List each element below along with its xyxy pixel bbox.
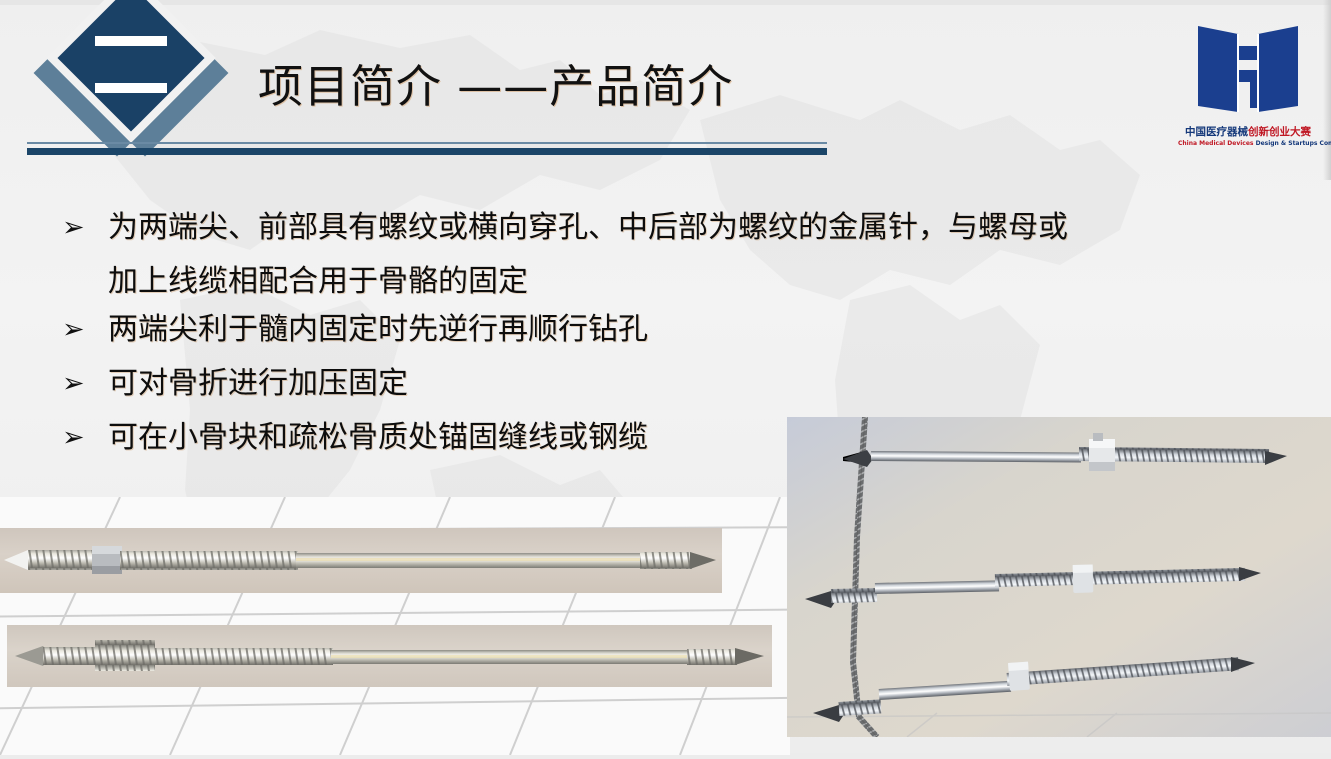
emblem-bar-bottom	[95, 83, 167, 93]
competition-logo: 中国医疗器械创新创业大赛 China Medical Devices Desig…	[1178, 14, 1318, 164]
list-item: ➢ 两端尖利于髓内固定时先逆行再顺行钻孔	[62, 306, 1222, 354]
competition-logo-cn-text: 中国医疗器械创新创业大赛	[1178, 124, 1318, 139]
threaded-bone-pin-double-thread-photo	[7, 625, 772, 687]
bullet-arrow-icon: ➢	[62, 204, 108, 252]
slide-root: 项目简介 ——产品简介 中国医疗器械创新创业大赛 China Medical D…	[0, 0, 1331, 759]
title-divider	[27, 142, 827, 156]
bullet-arrow-icon: ➢	[62, 306, 108, 354]
right-edge-shade	[1323, 0, 1331, 180]
divider-thin-line	[27, 142, 827, 144]
bullet-text: 两端尖利于髓内固定时先逆行再顺行钻孔	[108, 306, 648, 354]
page-title: 项目简介 ——产品简介	[258, 62, 733, 112]
divider-thick-line	[27, 148, 827, 155]
bullet-text-continued: 加上线缆相配合用于骨骼的固定	[108, 264, 528, 299]
list-item: ➢ 为两端尖、前部具有螺纹或横向穿孔、中后部为螺纹的金属针，与螺母或 加上线缆相…	[62, 204, 1222, 306]
bullet-text: 可在小骨块和疏松骨质处锚固缝线或钢缆	[108, 414, 648, 462]
three-bone-pins-with-nuts-and-cable-photo	[787, 417, 1331, 737]
bullet-text: 为两端尖、前部具有螺纹或横向穿孔、中后部为螺纹的金属针，与螺母或	[108, 204, 1068, 252]
bullet-text: 可对骨折进行加压固定	[108, 360, 408, 408]
threaded-bone-pin-with-nut-photo	[0, 528, 722, 593]
emblem-bar-top	[95, 36, 167, 46]
competition-logo-en-text: China Medical Devices Design & Startups …	[1178, 140, 1318, 147]
list-item: ➢ 可对骨折进行加压固定	[62, 360, 1222, 408]
diamond-emblem-logo	[36, 0, 226, 164]
open-door-icon	[1192, 20, 1304, 120]
bullet-arrow-icon: ➢	[62, 360, 108, 408]
bullet-arrow-icon: ➢	[62, 414, 108, 462]
